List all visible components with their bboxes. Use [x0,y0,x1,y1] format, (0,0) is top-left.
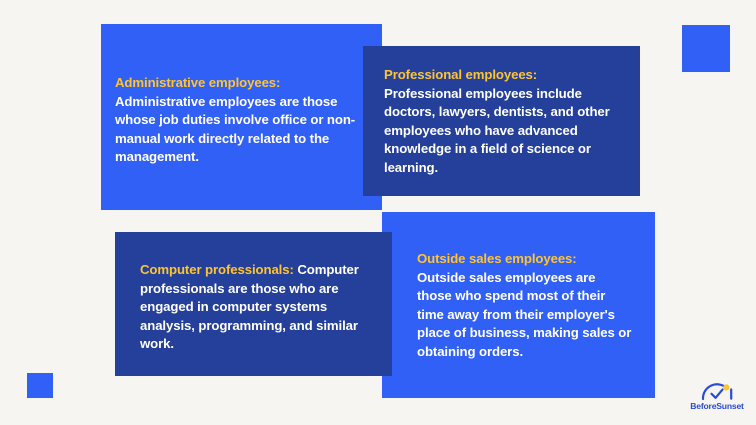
card-administrative-employees: Administrative employees:Administrative … [101,24,382,210]
card-text-professional: Professional employees:Professional empl… [363,66,640,178]
card-computer-professionals: Computer professionals: Computer profess… [115,232,392,376]
card-lead-outside-sales: Outside sales employees: [417,250,633,269]
sun-dot-icon [723,384,729,390]
card-text-outside-sales: Outside sales employees:Outside sales em… [382,250,655,362]
decorative-square-top-right [682,25,730,72]
card-body-administrative: Administrative employees are those whose… [115,94,355,165]
card-lead-administrative: Administrative employees: [115,74,368,93]
beforesunset-logo: BeforeSunset [687,381,747,415]
slide-canvas: Administrative employees:Administrative … [0,0,756,425]
card-text-computer: Computer professionals: Computer profess… [115,261,392,354]
logo-wordmark: BeforeSunset [687,401,747,411]
card-professional-employees: Professional employees:Professional empl… [363,46,640,196]
decorative-square-bottom-left [27,373,53,398]
card-lead-professional: Professional employees: [384,66,616,85]
card-text-administrative: Administrative employees:Administrative … [101,74,382,167]
sunset-arc-check-icon [687,381,747,401]
card-body-professional: Professional employees include doctors, … [384,86,610,175]
card-body-outside-sales: Outside sales employees are those who sp… [417,270,631,359]
card-lead-computer: Computer professionals: [140,262,294,277]
card-outside-sales-employees: Outside sales employees:Outside sales em… [382,212,655,398]
